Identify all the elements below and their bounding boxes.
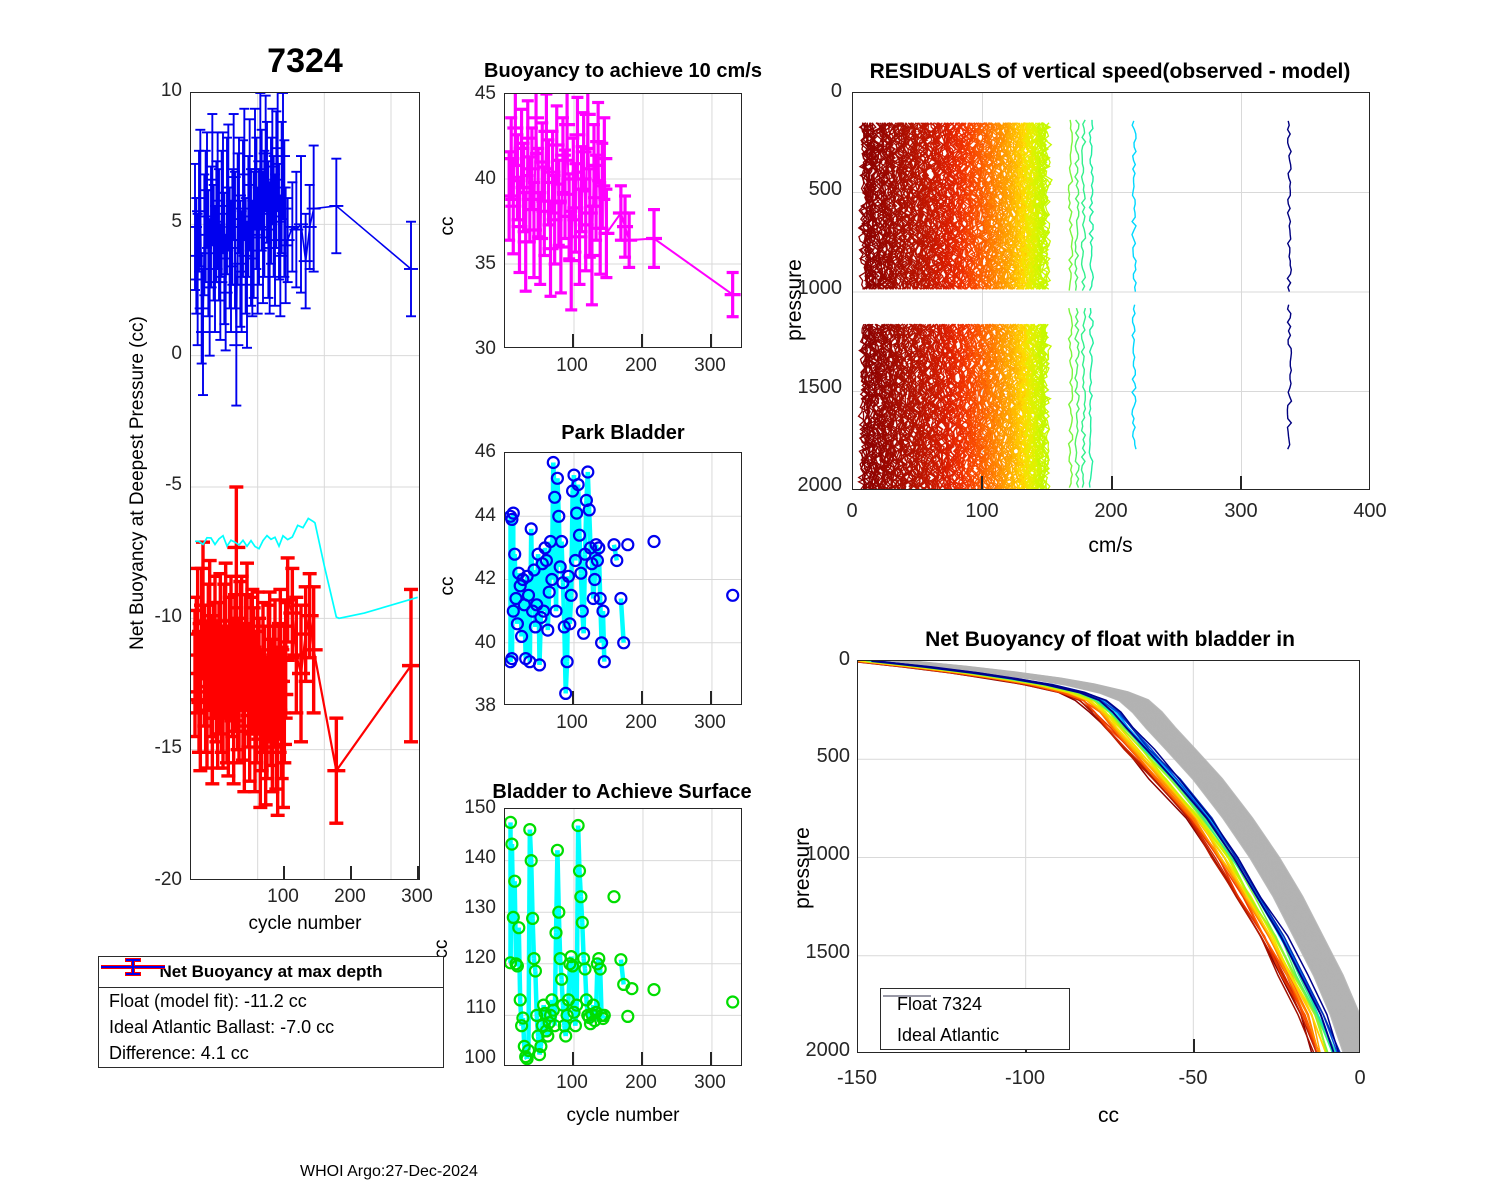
legend-label-float-fit: Float (model fit): -11.2 cc [109,991,307,1012]
panel6-xtick-0: -150 [827,1067,887,1090]
panel2-xtick-1: 200 [613,355,669,377]
panel4-ytick-0: 150 [440,797,496,819]
panel6-xtick-2: -50 [1163,1067,1223,1090]
legend-label-ideal: Ideal Atlantic [897,1025,999,1046]
panel1-xlabel: cycle number [190,913,420,935]
legend-item-ideal-ballast: Ideal Atlantic Ballast: -7.0 cc [99,1014,443,1040]
panel4-title: Bladder to Achieve Surface [462,781,782,804]
panel5-ytick-2: 1000 [780,277,842,300]
panel2-ytick-1: 40 [448,168,496,190]
panel1-xtick-0: 100 [253,886,313,908]
panel5-xtick-1: 100 [952,500,1012,523]
panel5-axes [852,92,1370,490]
panel1-axes [190,92,420,880]
legend-item-difference: Difference: 4.1 cc [99,1040,443,1066]
panel6-ylabel: pressure [791,773,815,963]
panel5-xtick-2: 200 [1081,500,1141,523]
panel2-axes [504,93,742,348]
panel1-ytick-0: 10 [120,80,182,102]
panel2-title: Buoyancy to achieve 10 cm/s [440,60,806,83]
panel3-title: Park Bladder [504,422,742,445]
legend-label-difference: Difference: 4.1 cc [109,1043,249,1064]
panel5-title: RESIDUALS of vertical speed(observed - m… [820,60,1400,84]
panel5-ytick-3: 1500 [780,376,842,399]
legend-max-depth: Net Buoyancy at max depth Float (model f… [98,956,444,1068]
panel3-xtick-1: 200 [613,712,669,734]
panel4-ytick-3: 120 [440,947,496,969]
panel5-ylabel: pressure [783,205,807,395]
panel3-ytick-3: 40 [448,632,496,654]
panel1-xtick-1: 200 [320,886,380,908]
panel2-xtick-2: 300 [682,355,738,377]
panel6-ytick-2: 1000 [788,843,850,866]
panel4-ytick-2: 130 [440,897,496,919]
panel5-xlabel: cm/s [851,534,1370,558]
panel5-ytick-1: 500 [780,178,842,201]
panel6-ytick-3: 1500 [788,941,850,964]
panel3-ytick-4: 38 [448,695,496,717]
panel1-ytick-4: -10 [120,606,182,628]
panel4-xtick-2: 300 [682,1072,738,1094]
panel4-xtick-0: 100 [544,1072,600,1094]
panel4-xlabel: cycle number [504,1105,742,1127]
panel6-xlabel: cc [857,1104,1360,1128]
panel3-ytick-0: 46 [448,441,496,463]
panel1-ytick-6: -20 [120,869,182,891]
panel2-ytick-2: 35 [448,253,496,275]
panel3-axes [504,452,742,705]
panel1-ytick-1: 5 [120,211,182,233]
panel1-ytick-5: -15 [120,737,182,759]
panel3-ytick-2: 42 [448,568,496,590]
panel6-title: Net Buoyancy of float with bladder in [860,628,1360,652]
panel4-ytick-5: 100 [440,1047,496,1069]
panel4-ytick-1: 140 [440,847,496,869]
panel4-ytick-4: 110 [440,997,496,1019]
main-figure-title: 7324 [190,42,420,81]
panel2-ytick-3: 30 [448,338,496,360]
panel6-xtick-3: 0 [1330,1067,1390,1090]
legend-bladder-in: Float 7324 Ideal Atlantic [880,988,1070,1050]
panel3-xtick-0: 100 [544,712,600,734]
legend-errorbar-blue [99,957,169,977]
panel5-ytick-4: 2000 [780,474,842,497]
panel1-ytick-2: 0 [120,343,182,365]
panel4-axes [504,808,742,1066]
panel6-ytick-4: 2000 [788,1039,850,1062]
panel2-ytick-0: 45 [448,83,496,105]
legend-item-ideal: Ideal Atlantic [881,1020,1069,1051]
panel6-ytick-1: 500 [788,745,850,768]
panel1-ytick-3: -5 [120,474,182,496]
panel3-xtick-2: 300 [682,712,738,734]
legend-item-float-fit: Float (model fit): -11.2 cc [99,988,443,1014]
panel4-xtick-1: 200 [613,1072,669,1094]
panel3-ytick-1: 44 [448,505,496,527]
panel5-xtick-0: 0 [822,500,882,523]
panel5-ytick-0: 0 [780,80,842,103]
panel6-xtick-1: -100 [995,1067,1055,1090]
panel5-xtick-3: 300 [1211,500,1271,523]
footer-credit: WHOI Argo:27-Dec-2024 [300,1163,478,1181]
legend-label-ideal-ballast: Ideal Atlantic Ballast: -7.0 cc [109,1017,334,1038]
panel6-ytick-0: 0 [788,648,850,671]
legend-line-ideal [881,989,933,1003]
panel2-xtick-0: 100 [544,355,600,377]
panel5-xtick-4: 400 [1340,500,1400,523]
